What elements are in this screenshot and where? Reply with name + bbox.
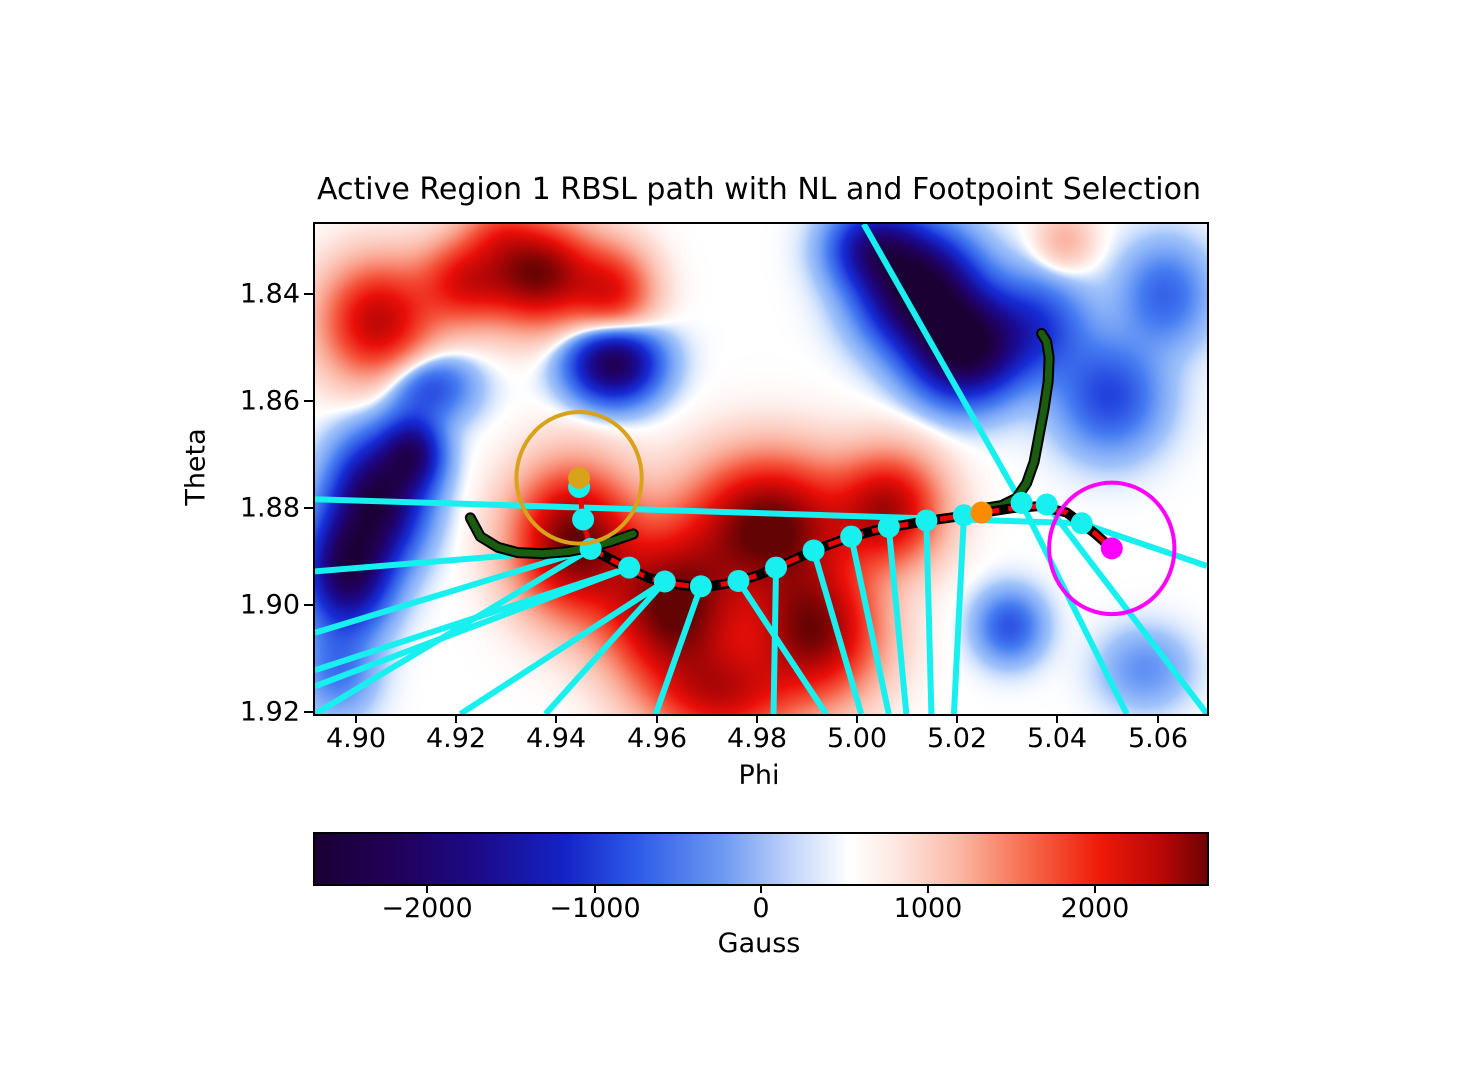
nl-point-marker-5[interactable] — [690, 575, 712, 597]
cbtick-mark-2 — [760, 884, 762, 893]
nl-point-marker-10[interactable] — [878, 516, 900, 538]
figure-canvas: Active Region 1 RBSL path with NL and Fo… — [0, 0, 1467, 1080]
ytick-label-1: 1.86 — [180, 386, 300, 417]
xtick-label-8: 5.06 — [1128, 723, 1188, 754]
plot-overlay — [315, 224, 1207, 714]
cbtick-mark-4 — [1094, 884, 1096, 893]
nl-point-marker-4[interactable] — [654, 570, 676, 592]
xtick-label-3: 4.96 — [627, 723, 687, 754]
field-line-12 — [889, 527, 907, 714]
colorbar[interactable] — [313, 832, 1209, 886]
cbtick-label-2: 0 — [752, 893, 769, 924]
positive-footpoint-marker[interactable] — [1101, 537, 1123, 559]
cbtick-label-4: 2000 — [1061, 893, 1130, 924]
xtick-label-4: 4.98 — [727, 723, 787, 754]
nl-point-marker-11[interactable] — [915, 510, 937, 532]
xtick-label-2: 4.94 — [526, 723, 586, 754]
page-title: Active Region 1 RBSL path with NL and Fo… — [313, 172, 1205, 207]
ytick-mark-4 — [304, 711, 313, 713]
ytick-label-0: 1.84 — [180, 279, 300, 310]
negative-footpoint-marker[interactable] — [568, 467, 590, 489]
ytick-mark-3 — [304, 604, 313, 606]
xtick-label-7: 5.04 — [1027, 723, 1087, 754]
cbtick-mark-3 — [927, 884, 929, 893]
field-line-10 — [814, 550, 862, 714]
cbtick-label-1: −1000 — [549, 893, 640, 924]
neutral-line-1 — [981, 334, 1049, 509]
y-axis-label: Theta — [181, 428, 212, 505]
ytick-mark-1 — [304, 400, 313, 402]
xtick-label-5: 5.00 — [827, 723, 887, 754]
field-line-13 — [926, 521, 931, 714]
field-line-7 — [656, 586, 701, 714]
colorbar-label: Gauss — [718, 928, 801, 959]
nl-point-marker-3[interactable] — [618, 557, 640, 579]
cbtick-mark-1 — [594, 884, 596, 893]
cbtick-mark-0 — [426, 884, 428, 893]
ytick-mark-2 — [304, 507, 313, 509]
field-line-16 — [864, 224, 1022, 503]
nl-point-marker-7[interactable] — [765, 557, 787, 579]
ytick-label-4: 1.92 — [180, 697, 300, 728]
nl-point-marker-1[interactable] — [572, 508, 594, 530]
nl-point-marker-13[interactable] — [1011, 492, 1033, 514]
cbtick-label-0: −2000 — [381, 893, 472, 924]
field-line-14 — [954, 515, 964, 714]
magnetogram-plot[interactable] — [313, 222, 1209, 716]
field-line-11 — [851, 537, 889, 714]
ytick-mark-0 — [304, 293, 313, 295]
nl-point-marker-9[interactable] — [840, 526, 862, 548]
cbtick-label-3: 1000 — [894, 893, 963, 924]
xtick-label-6: 5.02 — [927, 723, 987, 754]
nl-point-marker-6[interactable] — [727, 570, 749, 592]
nl-point-marker-14[interactable] — [1036, 494, 1058, 516]
x-axis-label: Phi — [739, 760, 780, 791]
xtick-label-1: 4.92 — [426, 723, 486, 754]
ytick-label-3: 1.90 — [180, 590, 300, 621]
field-line-9 — [774, 568, 777, 714]
field-line-8 — [738, 581, 826, 714]
nl-point-marker-15[interactable] — [1071, 512, 1093, 534]
rbsl-center-marker[interactable] — [970, 502, 992, 524]
nl-point-marker-8[interactable] — [803, 539, 825, 561]
xtick-label-0: 4.90 — [326, 723, 386, 754]
